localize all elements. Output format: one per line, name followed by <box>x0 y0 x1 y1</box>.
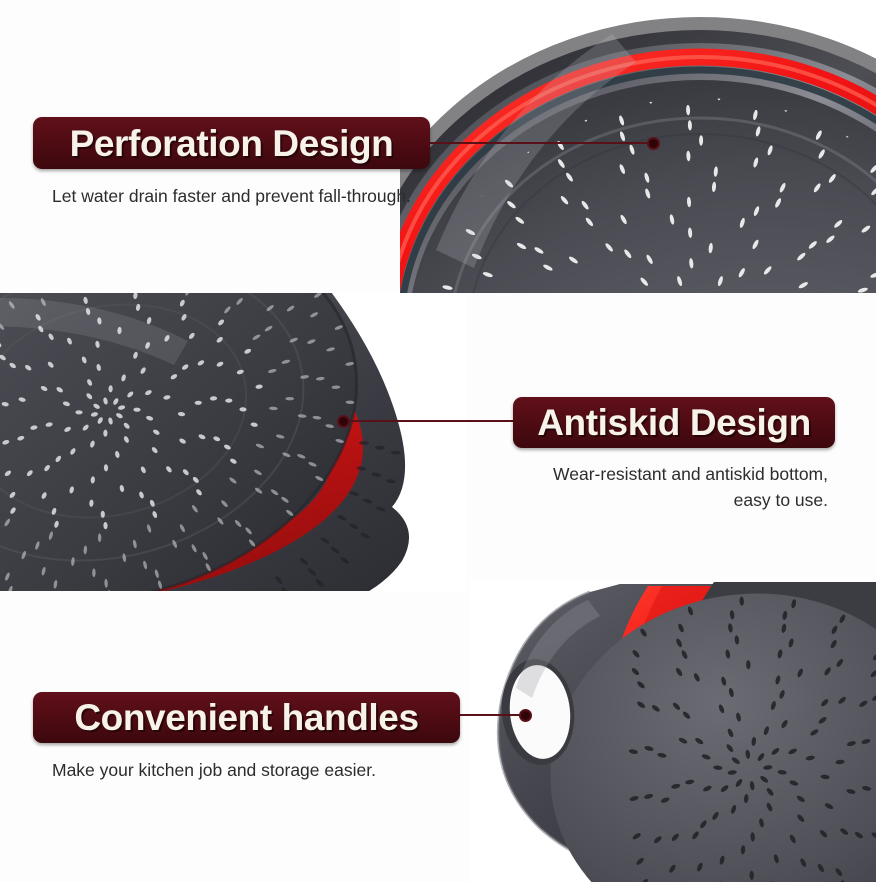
marker-dot-handles <box>519 709 532 722</box>
feature-label-text-antiskid: Antiskid Design <box>513 404 835 441</box>
feature-label-antiskid: Antiskid Design <box>513 397 835 448</box>
feature-subtitle-perforation: Let water drain faster and prevent fall-… <box>52 183 411 209</box>
leader-line-handles <box>458 714 526 716</box>
photo-perforation-closeup <box>400 0 876 293</box>
photo-handle-grip <box>470 580 876 882</box>
feature-subtitle-antiskid: Wear-resistant and antiskid bottom, easy… <box>553 461 828 513</box>
leader-line-perforation <box>428 142 654 144</box>
photo-antiskid-bottom <box>0 293 466 591</box>
marker-dot-perforation <box>647 137 660 150</box>
marker-dot-antiskid <box>337 415 350 428</box>
feature-label-perforation: Perforation Design <box>33 117 430 169</box>
feature-label-text-perforation: Perforation Design <box>33 125 430 162</box>
infographic-page: Perforation Design Let water drain faste… <box>0 0 876 882</box>
feature-label-text-handles: Convenient handles <box>33 699 460 736</box>
feature-subtitle-handles: Make your kitchen job and storage easier… <box>52 757 376 783</box>
feature-label-handles: Convenient handles <box>33 692 460 743</box>
leader-line-antiskid <box>343 420 515 422</box>
